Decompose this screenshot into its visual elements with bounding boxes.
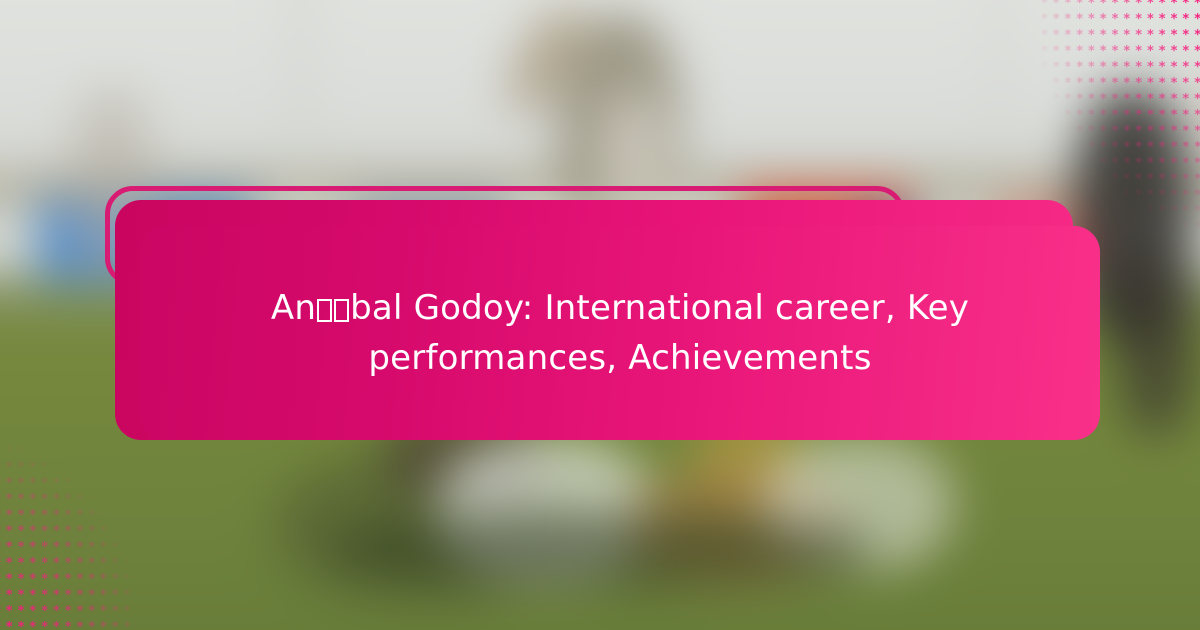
bg-player-right-legs (1116, 240, 1197, 436)
bg-post-left (295, 0, 307, 195)
title-segment-before: An (271, 288, 316, 328)
preview-canvas: ************** ************** **********… (0, 0, 1200, 630)
missing-glyph-box-2 (334, 299, 349, 322)
title-segment-after: bal Godoy: International career, Key (350, 288, 969, 328)
missing-glyph-box-1 (317, 299, 332, 322)
title-card: Anbal Godoy: International career, Key p… (140, 226, 1100, 440)
page-title: Anbal Godoy: International career, Key p… (220, 283, 1020, 384)
asterisk-pattern-bottom-left-icon: ************ ************ ************ *… (0, 428, 136, 630)
bg-ground-dark (329, 511, 872, 586)
title-line-2: performances, Achievements (368, 338, 871, 378)
bg-post-right (993, 0, 1004, 187)
